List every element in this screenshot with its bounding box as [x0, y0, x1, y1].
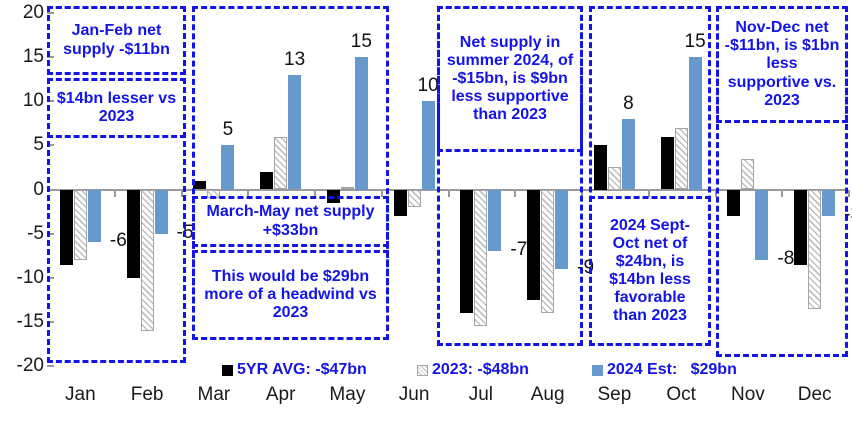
- annotation-nov-dec-net: Nov-Dec net -$11bn, is $1bn less support…: [716, 6, 848, 123]
- x-axis-label-may: May: [314, 384, 380, 406]
- square-blue-swatch-icon: [592, 365, 603, 376]
- annotation-summer-net-supply: Net supply in summer 2024, of -$15bn, is…: [437, 6, 583, 152]
- legend-label-2023: 2023: -$48bn: [432, 361, 529, 379]
- bar-jun-y2023: [408, 190, 421, 208]
- annotation-march-may-headwind: This would be $29bn more of a headwind v…: [192, 250, 389, 340]
- x-axis-label-apr: Apr: [248, 384, 314, 406]
- y-axis-tick-label: 5: [0, 134, 44, 156]
- annotation-sept-oct-net: 2024 Sept-Oct net of $24bn, is $14bn les…: [589, 196, 711, 346]
- chart-canvas: 20151050-5-10-15-20 -6-55131510-7-9815-8…: [0, 0, 852, 424]
- x-axis-label-dec: Dec: [782, 384, 848, 406]
- x-axis-label-sep: Sep: [581, 384, 647, 406]
- y-axis-tick-label: -15: [0, 311, 44, 333]
- x-axis-label-nov: Nov: [715, 384, 781, 406]
- y-axis-tick-label: 15: [0, 46, 44, 68]
- x-axis-tick-mark: [848, 190, 850, 197]
- x-axis-label-jan: Jan: [47, 384, 113, 406]
- x-axis-label-jun: Jun: [381, 384, 447, 406]
- legend-label-2024-est: 2024 Est: $29bn: [607, 361, 737, 379]
- y-axis-tick-label: 10: [0, 90, 44, 112]
- legend-item-2024-est: 2024 Est: $29bn: [592, 361, 737, 379]
- legend-item-5yr-avg: 5YR AVG: -$47bn: [222, 361, 367, 379]
- bar-jun-y2024: [422, 101, 435, 189]
- y-axis-tick-label: 20: [0, 2, 44, 24]
- y-axis-tick-label: -10: [0, 267, 44, 289]
- chart-legend: 5YR AVG: -$47bn 2023: -$48bn 2024 Est: $…: [0, 358, 852, 384]
- square-black-swatch-icon: [222, 365, 233, 376]
- x-axis-label-aug: Aug: [515, 384, 581, 406]
- x-axis-label-oct: Oct: [648, 384, 714, 406]
- bar-jun-avg: [394, 190, 407, 216]
- y-axis-tick-label: -5: [0, 223, 44, 245]
- annotation-march-may-net-supply: March-May net supply +$33bn: [192, 196, 389, 247]
- legend-item-2023: 2023: -$48bn: [417, 361, 529, 379]
- annotation-jan-feb-net-supply: Jan-Feb net supply -$11bn: [47, 6, 186, 75]
- square-hatched-swatch-icon: [417, 365, 428, 376]
- x-axis-label-feb: Feb: [114, 384, 180, 406]
- annotation-jan-feb-vs-2023: $14bn lesser vs 2023: [47, 78, 186, 138]
- x-axis-label-jul: Jul: [448, 384, 514, 406]
- y-axis-tick-label: 0: [0, 179, 44, 201]
- x-axis-label-mar: Mar: [181, 384, 247, 406]
- legend-label-5yr-avg: 5YR AVG: -$47bn: [237, 361, 367, 379]
